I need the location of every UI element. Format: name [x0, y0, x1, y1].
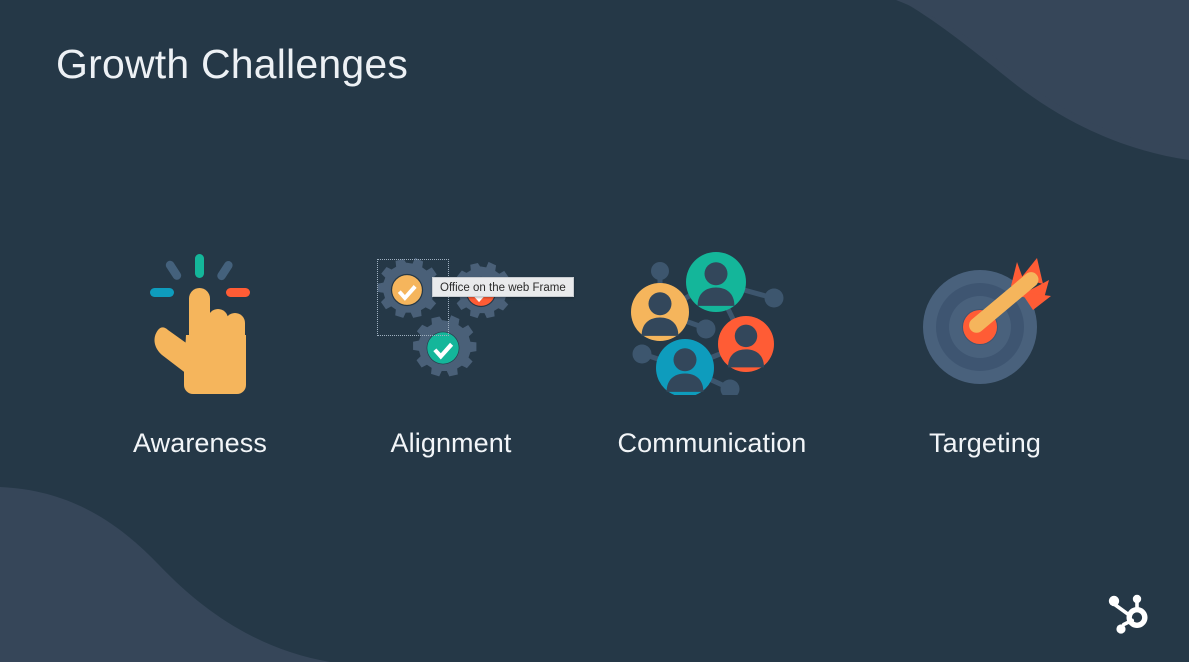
- wave-top-right: [900, 0, 1189, 160]
- wave-bottom-left: [0, 490, 310, 662]
- challenge-column-communication: Communication: [592, 250, 832, 470]
- click-ray-right-diag: [216, 259, 235, 281]
- challenge-column-targeting: Targeting: [865, 250, 1105, 470]
- selection-marquee[interactable]: [377, 259, 449, 336]
- hubspot-sprocket-logo: [1106, 590, 1158, 642]
- gear-badge-teal: [427, 332, 459, 364]
- hand-shape: [155, 288, 246, 394]
- challenge-label-awareness: Awareness: [80, 428, 320, 459]
- frame-tooltip: Office on the web Frame: [432, 277, 574, 297]
- communication-icon-wrap: [592, 250, 832, 400]
- wave-bottom-left-outer: [0, 487, 330, 662]
- click-ray-left-horizontal: [150, 288, 174, 297]
- slide-canvas: Growth Challenges: [0, 0, 1189, 662]
- person-node-teal[interactable]: [686, 252, 746, 312]
- wave-top-right-outer: [896, 0, 1189, 148]
- targeting-icon-wrap: [865, 250, 1105, 400]
- click-ray-right-horizontal: [226, 288, 250, 297]
- challenge-label-alignment: Alignment: [331, 428, 571, 459]
- challenge-label-communication: Communication: [592, 428, 832, 459]
- people-network-icon: [627, 250, 797, 395]
- click-ray-center: [195, 254, 204, 278]
- person-node-red[interactable]: [718, 316, 774, 372]
- person-node-orange[interactable]: [631, 283, 689, 341]
- target-arrow-bullseye-icon: [915, 250, 1055, 390]
- click-ray-left-diag: [164, 259, 183, 281]
- awareness-icon-wrap: [80, 250, 320, 400]
- alignment-icon-wrap: [331, 250, 571, 400]
- challenge-column-awareness: Awareness: [80, 250, 320, 470]
- page-title: Growth Challenges: [56, 41, 408, 88]
- challenge-label-targeting: Targeting: [865, 428, 1105, 459]
- person-node-cyan[interactable]: [656, 339, 714, 395]
- logo-ring: [1127, 607, 1148, 628]
- pointing-hand-click-icon: [140, 250, 260, 395]
